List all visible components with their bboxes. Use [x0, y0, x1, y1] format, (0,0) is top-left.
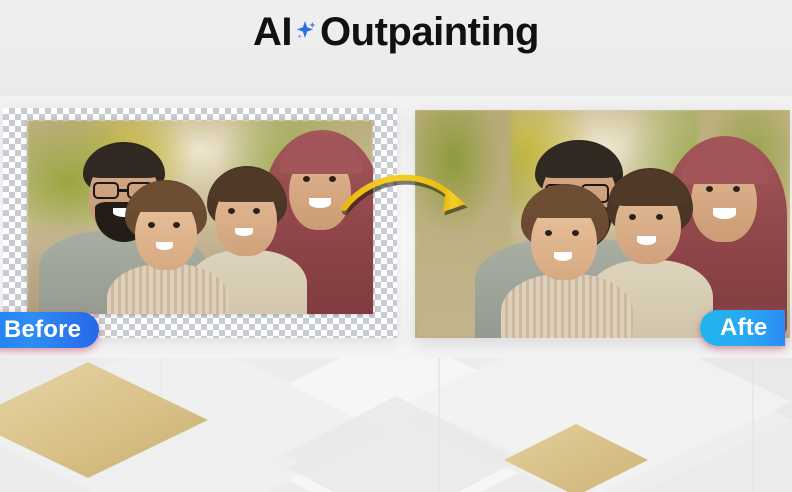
page-title: AI Outpainting	[0, 4, 792, 60]
transform-arrow	[340, 160, 475, 235]
before-badge-label: Before	[4, 316, 81, 344]
person-girl	[111, 184, 221, 314]
sparkle-icon	[292, 13, 318, 43]
person-girl	[507, 190, 621, 338]
before-badge[interactable]: Before	[0, 312, 99, 348]
before-photo-scene	[27, 120, 373, 314]
before-image-card[interactable]	[3, 108, 397, 338]
page-title-suffix: Outpainting	[320, 12, 539, 52]
before-photo	[27, 120, 373, 314]
after-badge-label: Afte	[720, 314, 767, 342]
after-badge[interactable]: Afte	[700, 310, 785, 346]
page-title-prefix: AI	[253, 12, 292, 52]
